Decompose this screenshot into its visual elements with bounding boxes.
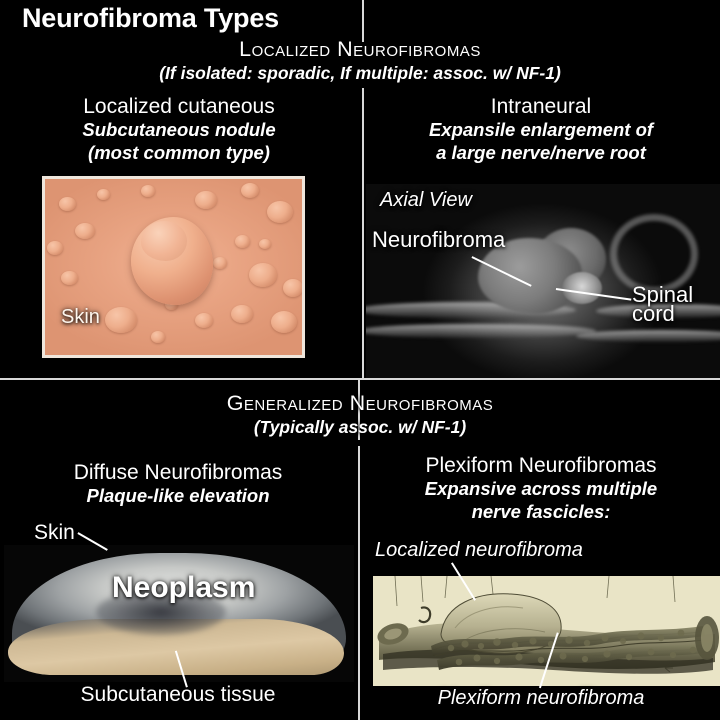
panel-sub2-intraneural: a large nerve/nerve root	[362, 143, 720, 162]
skin-nodule	[213, 257, 227, 269]
mri-tissue-band	[366, 324, 596, 338]
large-cutaneous-nodule	[131, 217, 213, 305]
skin-nodule	[259, 239, 271, 249]
skin-nodule	[195, 191, 217, 209]
image-label-axial-view: Axial View	[380, 190, 472, 211]
panel-heading-localized-cutaneous: Localized cutaneous	[0, 96, 358, 118]
skin-nodule	[141, 185, 155, 197]
divider-vertical-title-stub	[362, 0, 364, 42]
image-label-subcutaneous-tissue: Subcutaneous tissue	[0, 684, 356, 706]
panel-sub1-plexiform: Expansive across multiple	[362, 479, 720, 498]
divider-vertical-bottom	[358, 446, 360, 720]
image-label-neoplasm: Neoplasm	[112, 571, 255, 605]
skin-nodule	[241, 183, 259, 198]
skin-nodule	[75, 223, 95, 239]
panel-sub1-localized-cutaneous: Subcutaneous nodule	[0, 120, 358, 139]
panel-sub2-plexiform: nerve fascicles:	[362, 502, 720, 521]
skin-nodules-photo: Skin	[42, 176, 305, 358]
section-heading-generalized: Generalized Neurofibromas	[0, 392, 720, 415]
page-title: Neurofibroma Types	[22, 4, 279, 32]
section-heading-localized: Localized Neurofibromas	[0, 38, 720, 61]
skin-nodule	[195, 313, 213, 328]
skin-nodule	[267, 201, 293, 223]
image-label-neurofibroma: Neurofibroma	[372, 228, 505, 251]
panel-heading-intraneural: Intraneural	[362, 96, 720, 118]
infographic-root: Neurofibroma Types Localized Neurofibrom…	[0, 0, 720, 720]
panel-heading-diffuse: Diffuse Neurofibromas	[0, 462, 356, 484]
skin-nodule	[231, 305, 253, 323]
skin-nodule	[105, 307, 137, 333]
panel-sub1-diffuse: Plaque-like elevation	[0, 486, 356, 505]
skin-nodule	[61, 271, 78, 285]
skin-nodule	[235, 235, 250, 248]
skin-nodule	[249, 263, 277, 287]
skin-nodule	[271, 311, 297, 333]
mri-tissue-band	[576, 330, 720, 342]
image-label-cord: cord	[632, 302, 675, 325]
section-subheading-generalized: (Typically assoc. w/ NF-1)	[0, 418, 720, 436]
mri-axial-scan	[366, 184, 720, 378]
skin-nodule	[283, 279, 303, 297]
image-label-localized-neurofibroma: Localized neurofibroma	[375, 540, 583, 561]
skin-nodule	[59, 197, 76, 211]
skin-nodule	[47, 241, 63, 255]
mri-spinal-cord	[562, 272, 602, 304]
panel-heading-plexiform: Plexiform Neurofibromas	[362, 455, 720, 477]
panel-sub1-intraneural: Expansile enlargement of	[362, 120, 720, 139]
section-subheading-localized: (If isolated: sporadic, If multiple: ass…	[0, 64, 720, 82]
skin-nodule	[151, 331, 165, 343]
image-label-skin: Skin	[61, 306, 100, 329]
divider-horizontal-middle	[0, 378, 720, 380]
skin-nodule	[97, 189, 110, 200]
panel-sub2-localized-cutaneous: (most common type)	[0, 143, 358, 162]
image-label-plexiform-neurofibroma: Plexiform neurofibroma	[362, 688, 720, 709]
image-label-skin-gross: Skin	[34, 522, 75, 544]
